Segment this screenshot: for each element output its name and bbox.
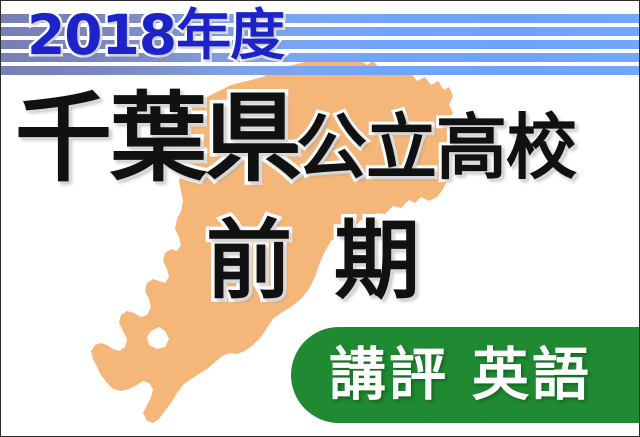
subject-review-badge: 講評 英語 xyxy=(291,327,640,423)
headline-line-1: 千葉県 公立高校 xyxy=(15,87,576,200)
banner-stripe xyxy=(1,66,640,75)
school-type-text: 公立高校 xyxy=(296,96,576,200)
poster-canvas: 2018年度 千葉県 公立高校 前 期 講評 英語 xyxy=(0,0,640,437)
prefecture-name-text: 千葉県 xyxy=(15,87,300,191)
subject-review-label: 講評 英語 xyxy=(329,343,592,407)
exam-term-text: 前 期 xyxy=(206,213,426,309)
year-label: 2018年度 xyxy=(27,4,284,66)
